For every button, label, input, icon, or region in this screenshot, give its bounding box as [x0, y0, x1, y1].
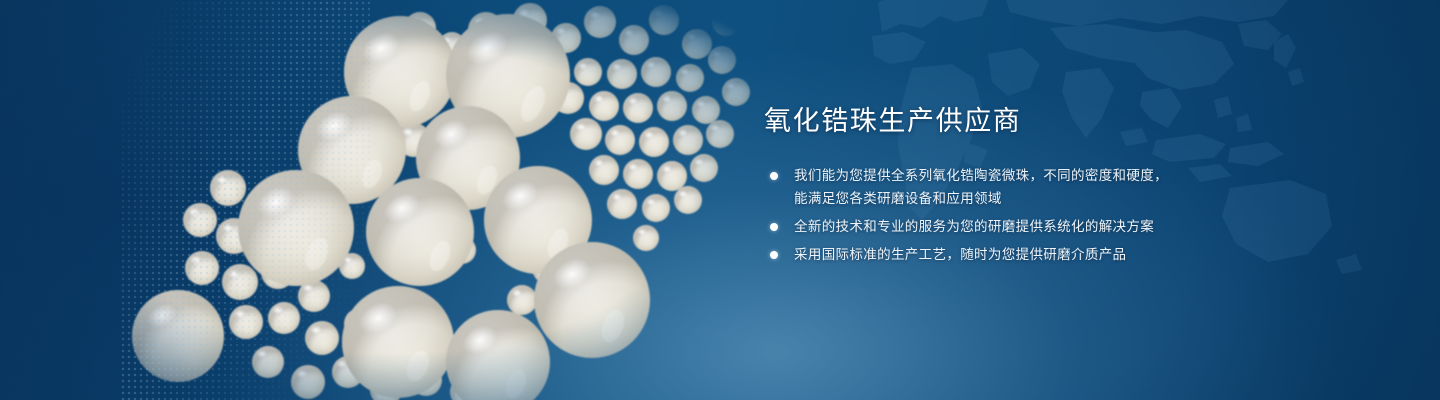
page-title: 氧化锆珠生产供应商 [764, 104, 1284, 138]
list-item-line: 采用国际标准的生产工艺，随时为您提供研磨介质产品 [794, 243, 1284, 266]
list-item: 全新的技术和专业的服务为您的研磨提供系统化的解决方案 [764, 215, 1284, 238]
list-item-line: 全新的技术和专业的服务为您的研磨提供系统化的解决方案 [794, 215, 1284, 238]
bullet-dot-icon [770, 251, 778, 259]
bullet-dot-icon [770, 223, 778, 231]
banner-copy: 氧化锆珠生产供应商 我们能为您提供全系列氧化锆陶瓷微珠，不同的密度和硬度， 能满… [764, 104, 1284, 271]
list-item: 采用国际标准的生产工艺，随时为您提供研磨介质产品 [764, 243, 1284, 266]
hero-banner: 氧化锆珠生产供应商 我们能为您提供全系列氧化锆陶瓷微珠，不同的密度和硬度， 能满… [0, 0, 1440, 400]
list-item: 我们能为您提供全系列氧化锆陶瓷微珠，不同的密度和硬度， 能满足您各类研磨设备和应… [764, 164, 1284, 210]
bullet-dot-icon [770, 172, 778, 180]
feature-list: 我们能为您提供全系列氧化锆陶瓷微珠，不同的密度和硬度， 能满足您各类研磨设备和应… [764, 164, 1284, 266]
list-item-line: 能满足您各类研磨设备和应用领域 [794, 187, 1284, 210]
list-item-line: 我们能为您提供全系列氧化锆陶瓷微珠，不同的密度和硬度， [794, 164, 1284, 187]
